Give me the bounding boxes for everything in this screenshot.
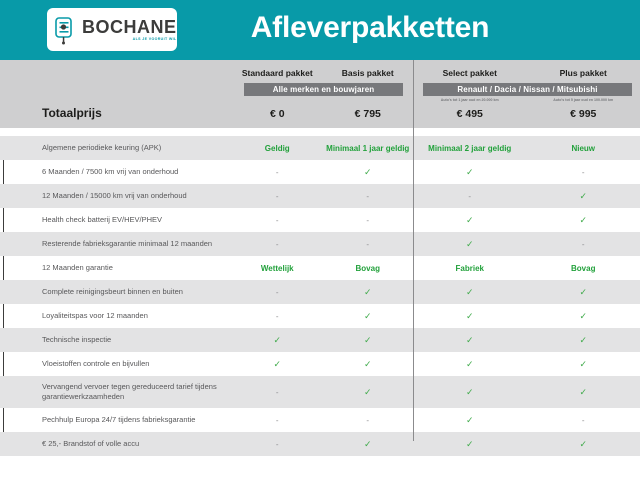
row-cells-left-group: ✓✓ — [232, 336, 413, 345]
table-cell: ✓ — [232, 336, 323, 345]
table-row: € 25,- Brandstof of volle accu-✓✓✓ — [0, 432, 640, 456]
dash-icon: - — [582, 416, 585, 425]
row-label: Algemene periodieke keuring (APK) — [0, 143, 232, 153]
check-icon: ✓ — [364, 335, 372, 345]
row-cells-right-group: ✓✓ — [413, 312, 640, 321]
row-cells-left-group: -- — [232, 416, 413, 425]
check-icon: ✓ — [579, 387, 587, 397]
dash-icon: - — [276, 216, 279, 225]
table-cell: ✓ — [232, 360, 323, 369]
row-cells-right-group: -✓ — [413, 192, 640, 201]
table-cell: ✓ — [413, 288, 527, 297]
header-group-right: Renault / Dacia / Nissan / Mitsubishi Se… — [413, 60, 640, 128]
table-cell: Minimaal 1 jaar geldig — [323, 144, 414, 153]
row-label: Complete reinigingsbeurt binnen en buite… — [0, 287, 232, 297]
table-cell: - — [232, 312, 323, 321]
check-icon: ✓ — [466, 387, 474, 397]
row-cells-left-group: -- — [232, 192, 413, 201]
package-note: Auto's tot 5 jaar oud en 100.000 km — [527, 98, 640, 102]
row-cells-left-group: -✓ — [232, 440, 413, 449]
check-icon: ✓ — [466, 287, 474, 297]
table-cell: Wettelijk — [232, 264, 323, 273]
group-divider — [413, 60, 414, 441]
dash-icon: - — [276, 440, 279, 449]
row-label: Vervangend vervoer tegen gereduceerd tar… — [0, 382, 232, 402]
header-col-standaard: Standaard pakket € 0 — [232, 60, 323, 128]
row-cells-left-group: GeldigMinimaal 1 jaar geldig — [232, 144, 413, 153]
check-icon: ✓ — [466, 239, 474, 249]
row-label: Pechhulp Europa 24/7 tijdens fabrieksgar… — [0, 415, 232, 425]
table-cell: - — [323, 192, 414, 201]
check-icon: ✓ — [364, 287, 372, 297]
table-cell: - — [232, 240, 323, 249]
package-name: Plus pakket — [527, 68, 640, 78]
table-row: Technische inspectie✓✓✓✓ — [0, 328, 640, 352]
table-cell: - — [323, 416, 414, 425]
table-cell: Geldig — [232, 144, 323, 153]
table-cell: ✓ — [323, 312, 414, 321]
row-cells-right-group: ✓✓ — [413, 360, 640, 369]
table-cell: ✓ — [413, 216, 527, 225]
dash-icon: - — [582, 240, 585, 249]
row-cells-left-group: WettelijkBovag — [232, 264, 413, 273]
dash-icon: - — [366, 216, 369, 225]
check-icon: ✓ — [364, 359, 372, 369]
check-icon: ✓ — [579, 359, 587, 369]
row-label: € 25,- Brandstof of volle accu — [0, 439, 232, 449]
header-gap — [0, 128, 640, 136]
dash-icon: - — [276, 416, 279, 425]
dash-icon: - — [276, 168, 279, 177]
table-row: Resterende fabrieksgarantie minimaal 12 … — [0, 232, 640, 256]
check-icon: ✓ — [579, 287, 587, 297]
table-cell: - — [232, 416, 323, 425]
row-cells-left-group: -- — [232, 240, 413, 249]
row-label: Health check batterij EV/HEV/PHEV — [0, 215, 232, 225]
feature-table: Algemene periodieke keuring (APK)GeldigM… — [0, 136, 640, 456]
table-row: Pechhulp Europa 24/7 tijdens fabrieksgar… — [0, 408, 640, 432]
package-price: € 495 — [413, 108, 527, 120]
check-icon: ✓ — [466, 335, 474, 345]
row-cells-left-group: -✓ — [232, 388, 413, 397]
table-cell: ✓ — [323, 288, 414, 297]
row-cells-left-group: -✓ — [232, 312, 413, 321]
table-cell: ✓ — [413, 440, 527, 449]
row-cells-right-group: FabriekBovag — [413, 264, 640, 273]
header-col-select: Select pakket Auto's tot 1 jaar oud en 2… — [413, 60, 527, 128]
table-cell: - — [413, 192, 527, 201]
dash-icon: - — [366, 416, 369, 425]
row-label: 12 Maanden garantie — [0, 263, 232, 273]
table-cell: ✓ — [413, 416, 527, 425]
table-bottom-padding — [0, 456, 640, 480]
table-cell: Nieuw — [527, 144, 640, 153]
package-price: € 995 — [527, 108, 640, 120]
row-label: Resterende fabrieksgarantie minimaal 12 … — [0, 239, 232, 249]
row-cells-right-group: Minimaal 2 jaar geldigNieuw — [413, 144, 640, 153]
dash-icon: - — [468, 192, 471, 201]
header-label-column: Totaalprijs — [0, 60, 232, 128]
check-icon: ✓ — [579, 311, 587, 321]
row-cells-right-group: ✓- — [413, 416, 640, 425]
check-icon: ✓ — [579, 191, 587, 201]
table-cell: ✓ — [413, 388, 527, 397]
table-cell: ✓ — [413, 336, 527, 345]
table-row: Complete reinigingsbeurt binnen en buite… — [0, 280, 640, 304]
table-cell: ✓ — [527, 192, 640, 201]
table-row: Loyaliteitspas voor 12 maanden-✓✓✓ — [0, 304, 640, 328]
check-icon: ✓ — [364, 167, 372, 177]
table-cell: Bovag — [323, 264, 414, 273]
row-cells-left-group: ✓✓ — [232, 360, 413, 369]
totaalprijs-label: Totaalprijs — [42, 106, 102, 120]
dash-icon: - — [366, 240, 369, 249]
package-name: Basis pakket — [323, 68, 414, 78]
table-cell: ✓ — [527, 336, 640, 345]
table-cell: ✓ — [527, 312, 640, 321]
header-group-left: Alle merken en bouwjaren Standaard pakke… — [232, 60, 413, 128]
row-cells-left-group: -✓ — [232, 288, 413, 297]
table-header: Totaalprijs Alle merken en bouwjaren Sta… — [0, 60, 640, 128]
check-icon: ✓ — [466, 359, 474, 369]
package-price: € 795 — [323, 108, 414, 120]
row-cells-right-group: ✓✓ — [413, 216, 640, 225]
check-icon: ✓ — [466, 311, 474, 321]
row-label: Vloeistoffen controle en bijvullen — [0, 359, 232, 369]
row-label: Technische inspectie — [0, 335, 232, 345]
package-note: Auto's tot 1 jaar oud en 20.000 km — [413, 98, 527, 102]
row-cells-right-group: ✓- — [413, 240, 640, 249]
table-cell: ✓ — [527, 440, 640, 449]
check-icon: ✓ — [466, 167, 474, 177]
dash-icon: - — [276, 388, 279, 397]
table-cell: - — [232, 192, 323, 201]
package-name: Standaard pakket — [232, 68, 323, 78]
header-col-basis: Basis pakket € 795 — [323, 60, 414, 128]
table-cell: ✓ — [323, 388, 414, 397]
dash-icon: - — [582, 168, 585, 177]
table-cell: ✓ — [323, 360, 414, 369]
check-icon: ✓ — [579, 215, 587, 225]
dash-icon: - — [276, 240, 279, 249]
check-icon: ✓ — [273, 359, 281, 369]
table-cell: Minimaal 2 jaar geldig — [413, 144, 527, 153]
table-cell: ✓ — [413, 312, 527, 321]
table-cell: - — [232, 388, 323, 397]
table-cell: ✓ — [323, 168, 414, 177]
table-cell: ✓ — [323, 440, 414, 449]
row-cells-right-group: ✓✓ — [413, 288, 640, 297]
check-icon: ✓ — [466, 439, 474, 449]
table-cell: ✓ — [413, 360, 527, 369]
table-cell: - — [527, 168, 640, 177]
table-cell: - — [527, 240, 640, 249]
row-cells-right-group: ✓✓ — [413, 336, 640, 345]
package-name: Select pakket — [413, 68, 527, 78]
table-cell: ✓ — [527, 216, 640, 225]
check-icon: ✓ — [579, 335, 587, 345]
table-cell: Fabriek — [413, 264, 527, 273]
dash-icon: - — [276, 312, 279, 321]
table-cell: - — [323, 240, 414, 249]
table-cell: Bovag — [527, 264, 640, 273]
table-cell: - — [232, 288, 323, 297]
row-label: 12 Maanden / 15000 km vrij van onderhoud — [0, 191, 232, 201]
table-row: 12 Maanden / 15000 km vrij van onderhoud… — [0, 184, 640, 208]
table-cell: ✓ — [323, 336, 414, 345]
row-cells-left-group: -- — [232, 216, 413, 225]
table-cell: ✓ — [527, 288, 640, 297]
table-cell: ✓ — [527, 360, 640, 369]
dash-icon: - — [276, 192, 279, 201]
table-row: Vervangend vervoer tegen gereduceerd tar… — [0, 376, 640, 408]
row-label: 6 Maanden / 7500 km vrij van onderhoud — [0, 167, 232, 177]
check-icon: ✓ — [466, 415, 474, 425]
table-cell: ✓ — [413, 168, 527, 177]
table-cell: - — [232, 168, 323, 177]
row-label: Loyaliteitspas voor 12 maanden — [0, 311, 232, 321]
row-cells-left-group: -✓ — [232, 168, 413, 177]
check-icon: ✓ — [364, 387, 372, 397]
row-cells-right-group: ✓✓ — [413, 440, 640, 449]
check-icon: ✓ — [364, 311, 372, 321]
table-cell: - — [527, 416, 640, 425]
row-cells-right-group: ✓- — [413, 168, 640, 177]
table-row: 12 Maanden garantieWettelijkBovagFabriek… — [0, 256, 640, 280]
table-row: Algemene periodieke keuring (APK)GeldigM… — [0, 136, 640, 160]
table-cell: - — [323, 216, 414, 225]
package-price: € 0 — [232, 108, 323, 120]
dash-icon: - — [276, 288, 279, 297]
table-row: Vloeistoffen controle en bijvullen✓✓✓✓ — [0, 352, 640, 376]
table-cell: - — [232, 216, 323, 225]
afleverpakketten-sheet: BOCHANE ALS JE VOORUIT WIL Afleverpakket… — [0, 0, 640, 453]
check-icon: ✓ — [579, 439, 587, 449]
check-icon: ✓ — [466, 215, 474, 225]
check-icon: ✓ — [273, 335, 281, 345]
check-icon: ✓ — [364, 439, 372, 449]
table-row: 6 Maanden / 7500 km vrij van onderhoud-✓… — [0, 160, 640, 184]
row-cells-right-group: ✓✓ — [413, 388, 640, 397]
table-cell: - — [232, 440, 323, 449]
table-cell: ✓ — [527, 388, 640, 397]
table-cell: ✓ — [413, 240, 527, 249]
header-col-plus: Plus pakket Auto's tot 5 jaar oud en 100… — [527, 60, 640, 128]
page-title: Afleverpakketten — [0, 11, 640, 45]
dash-icon: - — [366, 192, 369, 201]
page-banner: BOCHANE ALS JE VOORUIT WIL Afleverpakket… — [0, 0, 640, 60]
table-row: Health check batterij EV/HEV/PHEV--✓✓ — [0, 208, 640, 232]
